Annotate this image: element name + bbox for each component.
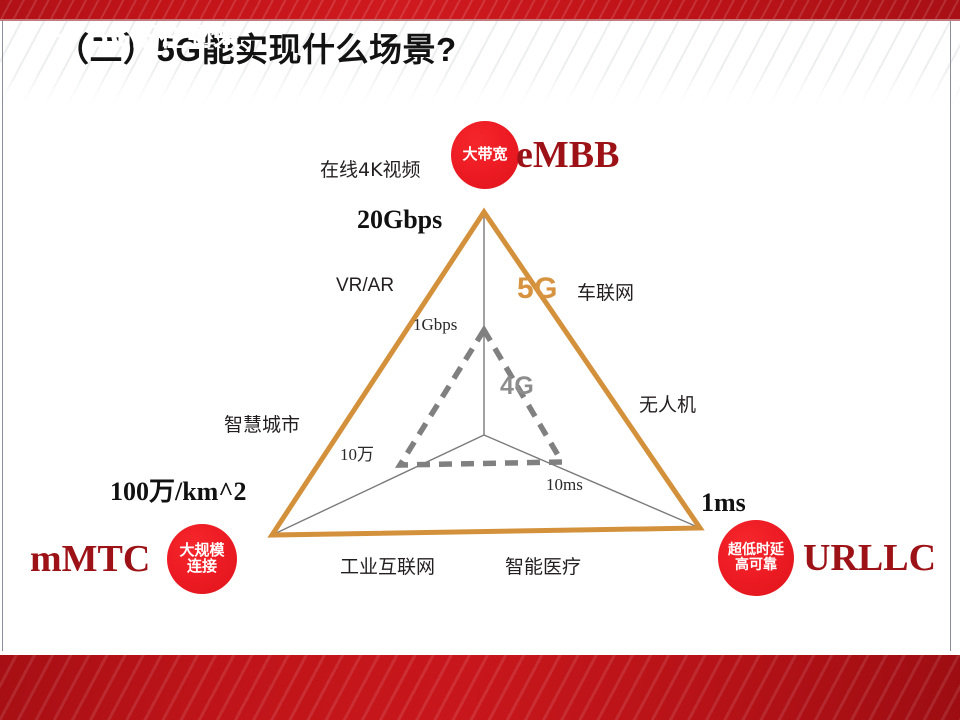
five-g-scenario-diagram: 大带宽 大规模 连接 超低时延 高可靠 eMBB mMTC URLLC 5G 4… bbox=[0, 100, 960, 652]
scenario-label-online-4k-video: 在线4K视频 bbox=[320, 155, 421, 182]
kpi-4g-mmtc: 10万 bbox=[340, 440, 374, 465]
scenario-label-vr-ar: VR/AR bbox=[336, 275, 394, 297]
bubble-urllc-label-line2: 高可靠 bbox=[735, 558, 777, 573]
four-g-triangle bbox=[400, 330, 562, 465]
bubble-embb-label: 大带宽 bbox=[462, 147, 507, 163]
axis-lines bbox=[272, 212, 700, 535]
bubble-mmtc-label-line2: 连接 bbox=[187, 559, 217, 575]
bubble-urllc[interactable]: 超低时延 高可靠 bbox=[718, 520, 794, 596]
footer-section-title: 一、5G正在到来 bbox=[37, 17, 240, 54]
scenario-label-industrial-internet: 工业互联网 bbox=[340, 552, 435, 579]
bubble-embb[interactable]: 大带宽 bbox=[451, 121, 519, 189]
scenario-label-smart-city: 智慧城市 bbox=[224, 410, 300, 437]
kpi-5g-mmtc: 100万/km^2 bbox=[110, 471, 246, 508]
kpi-4g-embb: 1Gbps bbox=[413, 315, 457, 335]
bubble-mmtc[interactable]: 大规模 连接 bbox=[167, 524, 237, 594]
slide-footer bbox=[0, 655, 960, 720]
acronym-mmtc: mMTC bbox=[30, 537, 150, 581]
network-label-4g: 4G bbox=[500, 372, 534, 401]
bubble-urllc-label-line1: 超低时延 bbox=[728, 543, 784, 558]
slide-root: （二）5G能实现什么场景? 大带宽 大规模 bbox=[0, 0, 960, 720]
five-g-triangle bbox=[272, 212, 700, 535]
scenario-label-drone: 无人机 bbox=[639, 390, 696, 417]
scenario-label-smart-medical: 智能医疗 bbox=[505, 552, 581, 579]
network-label-5g: 5G bbox=[517, 272, 558, 306]
acronym-embb: eMBB bbox=[516, 133, 619, 177]
acronym-urllc: URLLC bbox=[803, 536, 936, 580]
kpi-5g-embb: 20Gbps bbox=[357, 205, 442, 235]
kpi-4g-urllc: 10ms bbox=[546, 475, 583, 495]
scenario-label-connected-vehicle: 车联网 bbox=[577, 278, 634, 305]
kpi-5g-urllc: 1ms bbox=[701, 488, 746, 518]
